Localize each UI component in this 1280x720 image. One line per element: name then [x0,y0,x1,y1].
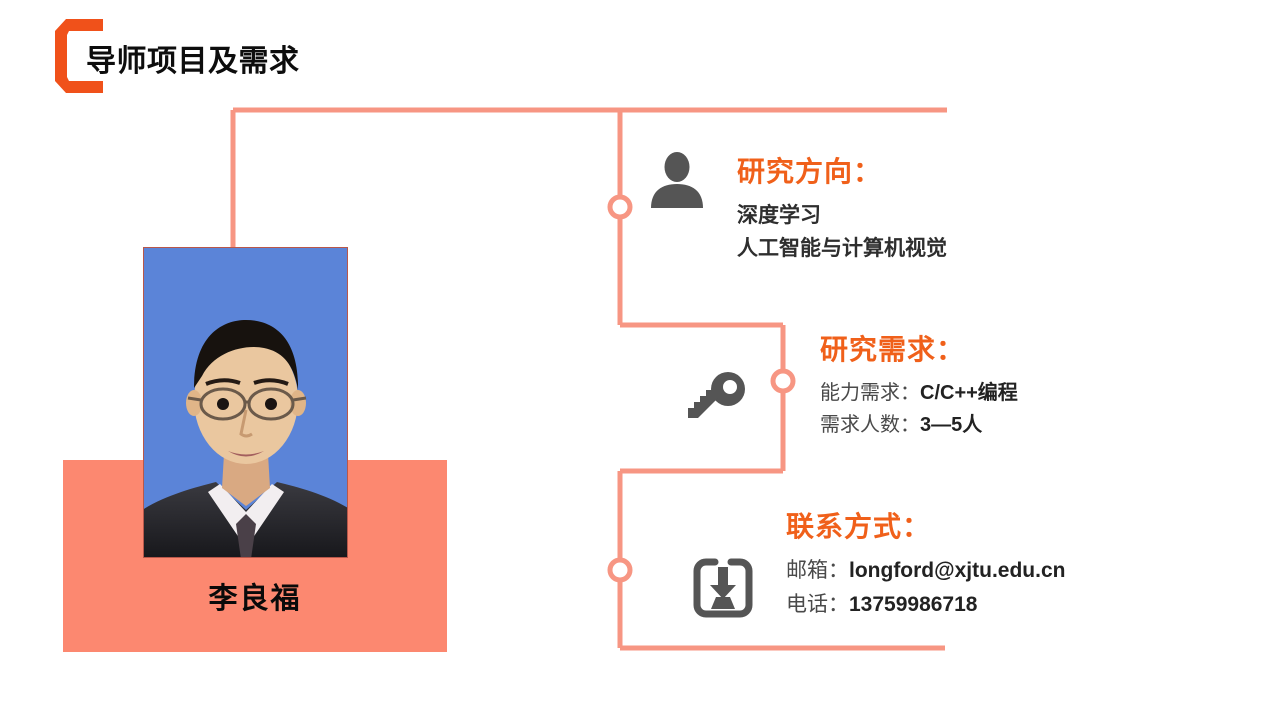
direction-line-2: 人工智能与计算机视觉 [737,233,947,266]
requirement-heading: 研究需求： [820,328,1018,368]
slide-canvas: 导师项目及需求 [0,0,1280,720]
phone-value: 13759986718 [849,593,977,616]
connector-node-contact [610,560,630,580]
info-block-direction: 研究方向： 深度学习 人工智能与计算机视觉 [737,150,947,265]
person-icon [648,152,706,208]
requirement-value-2: 3—5人 [920,414,982,436]
key-icon [685,372,747,426]
email-value: longford@xjtu.edu.cn [849,559,1065,582]
info-block-requirement: 研究需求： 能力需求：C/C++编程 需求人数：3—5人 [820,328,1018,442]
page-title: 导师项目及需求 [86,36,300,80]
email-label: 邮箱： [786,559,849,582]
direction-line-1: 深度学习 [737,200,947,233]
contact-line-phone: 电话：13759986718 [786,588,1065,622]
requirement-value-1: C/C++编程 [920,382,1018,404]
requirement-line-1: 能力需求：C/C++编程 [820,377,1018,409]
avatar-illustration [144,248,348,558]
requirement-label-1: 能力需求： [820,382,920,404]
profile-name: 李良福 [63,575,447,617]
requirement-line-2: 需求人数：3—5人 [820,409,1018,441]
contact-heading: 联系方式： [786,505,1065,545]
direction-heading: 研究方向： [737,150,947,190]
requirement-label-2: 需求人数： [820,414,920,436]
slide-header: 导师项目及需求 [0,0,1280,105]
profile-photo [143,247,348,558]
info-block-contact: 联系方式： 邮箱：longford@xjtu.edu.cn 电话：1375998… [786,505,1065,622]
inbox-download-icon [692,557,754,619]
connector-node-direction [610,197,630,217]
connector-node-requirement [773,371,793,391]
contact-line-email: 邮箱：longford@xjtu.edu.cn [786,554,1065,588]
phone-label: 电话： [786,593,849,616]
